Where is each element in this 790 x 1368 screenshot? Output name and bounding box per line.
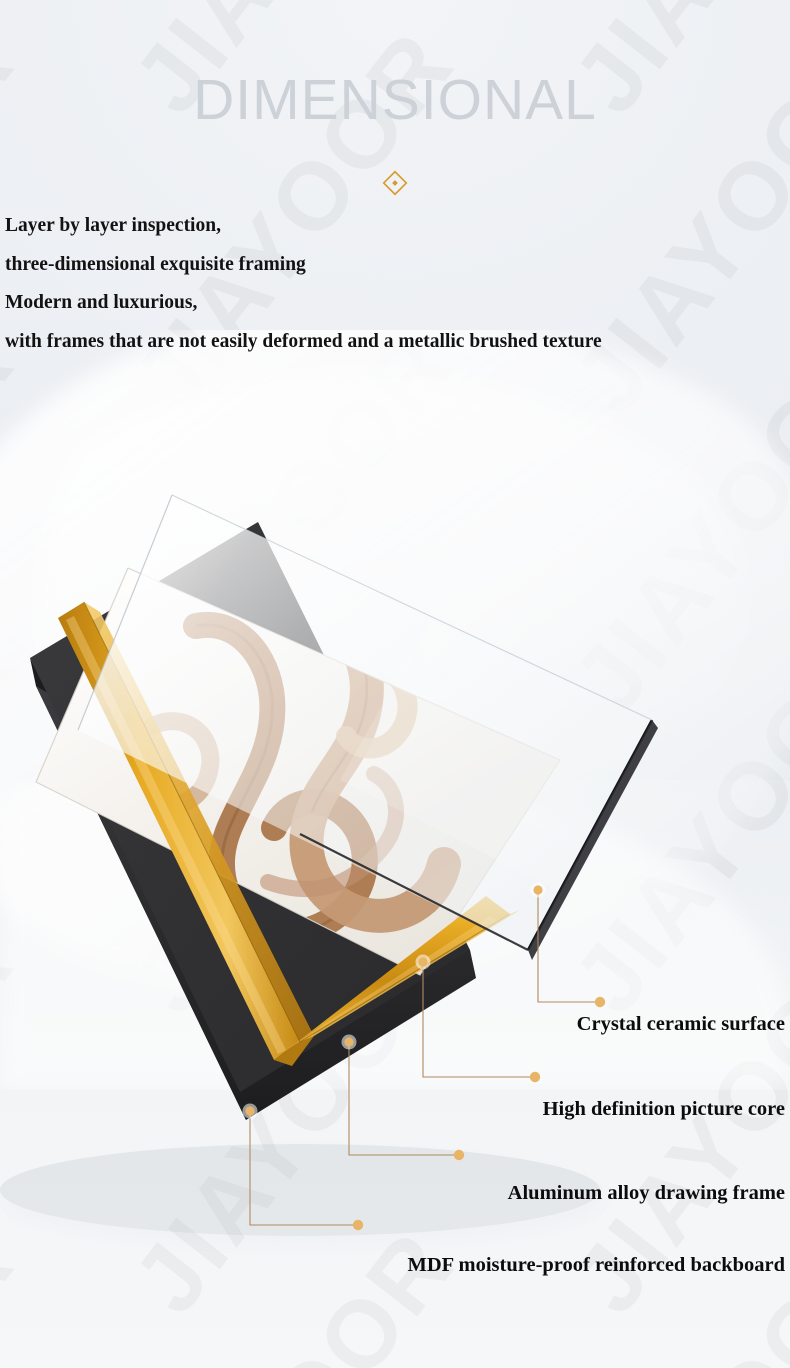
source-dot	[418, 957, 427, 966]
callout-mdf-moisture-proof-reinforced-backboard	[243, 1104, 364, 1231]
callout-high-definition-picture-core	[416, 955, 541, 1083]
end-dot	[353, 1220, 363, 1230]
source-dot	[245, 1106, 254, 1115]
source-dot	[344, 1037, 353, 1046]
callout-label-mdf-moisture-proof-reinforced-backboard: MDF moisture-proof reinforced backboard	[407, 1255, 785, 1276]
end-dot	[530, 1072, 540, 1082]
leader-line	[538, 890, 600, 1002]
source-dot	[533, 885, 542, 894]
leader-line	[349, 1042, 459, 1155]
callout-label-high-definition-picture-core: High definition picture core	[543, 1099, 785, 1120]
leader-line	[423, 962, 535, 1077]
callout-crystal-ceramic-surface	[531, 883, 606, 1008]
callout-leader-lines	[0, 0, 790, 1368]
callout-label-aluminum-alloy-drawing-frame: Aluminum alloy drawing frame	[508, 1183, 785, 1204]
end-dot	[595, 997, 605, 1007]
leader-line	[250, 1111, 358, 1225]
callout-aluminum-alloy-drawing-frame	[342, 1035, 465, 1161]
product-detail-image: JIAYOORJIAYOORJIAYOORJIAYOORJIAYOORJIAYO…	[0, 0, 790, 1368]
callout-label-crystal-ceramic-surface: Crystal ceramic surface	[577, 1014, 785, 1035]
end-dot	[454, 1150, 464, 1160]
